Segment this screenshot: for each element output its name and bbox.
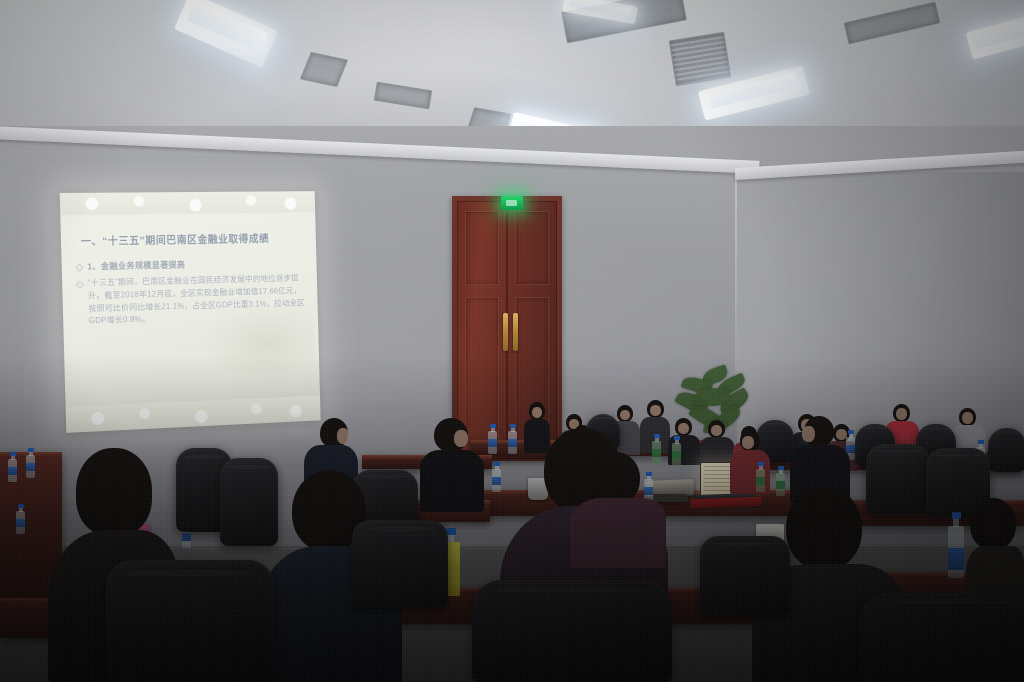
slide-top-border — [60, 191, 315, 215]
projection-screen: 一、“十三五”期间巴南区金融业取得成绩 1、金融业务规模显著提高 “十三五”期间… — [60, 191, 321, 433]
slide-title: 一、“十三五”期间巴南区金融业取得成绩 — [81, 232, 309, 248]
emergency-exit-sign-icon — [501, 196, 523, 210]
water-bottle — [26, 448, 35, 478]
water-bottle — [8, 452, 17, 482]
exit-running-man-glyph — [506, 200, 517, 206]
office-chair[interactable] — [700, 536, 790, 616]
door-panel — [515, 211, 549, 285]
conference-room-photo: 一、“十三五”期间巴南区金融业取得成绩 1、金融业务规模显著提高 “十三五”期间… — [0, 0, 1024, 682]
door-handle-icon[interactable] — [513, 313, 518, 351]
meeting-attendee — [570, 452, 666, 562]
door-panel — [465, 211, 499, 285]
door-handle-icon[interactable] — [503, 313, 508, 351]
office-chair[interactable] — [472, 580, 672, 682]
ceiling-vent-icon — [669, 32, 732, 86]
water-bottle — [948, 512, 964, 578]
slide-bullet: “十三五”期间，巴南区金融业在国民经济发展中的地位逐步提升。截至2018年12月… — [76, 273, 309, 329]
office-chair[interactable] — [352, 520, 448, 608]
office-chair[interactable] — [988, 428, 1024, 472]
office-chair[interactable] — [106, 560, 274, 682]
water-bottle — [672, 436, 681, 466]
meeting-attendee — [700, 420, 734, 464]
slide-body: 1、金融业务规模显著提高 “十三五”期间，巴南区金融业在国民经济发展中的地位逐步… — [75, 256, 309, 332]
water-bottle — [16, 504, 25, 534]
meeting-attendee — [420, 418, 484, 510]
projected-slide: 一、“十三五”期间巴南区金融业取得成绩 1、金融业务规模显著提高 “十三五”期间… — [60, 191, 321, 433]
office-chair[interactable] — [860, 592, 1024, 682]
slide-bullet: 1、金融业务规模显著提高 — [75, 256, 307, 274]
water-bottle — [488, 424, 497, 454]
